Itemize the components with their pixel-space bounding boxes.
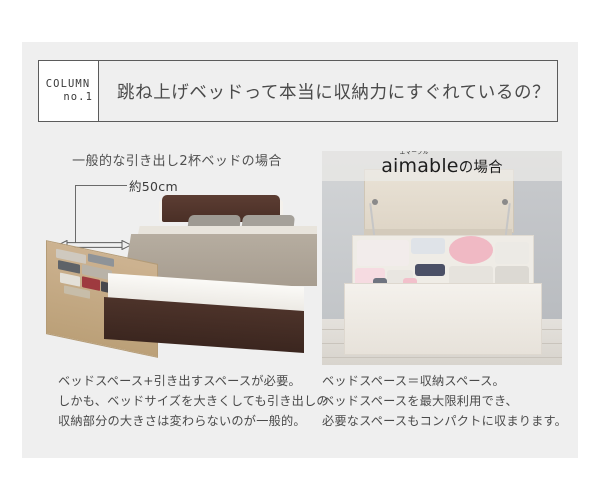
dimension-label: 約50cm bbox=[129, 176, 178, 195]
aimable-label-overlay: エマーブル aimableの場合 bbox=[322, 151, 562, 181]
aimable-label: エマーブル aimableの場合 bbox=[381, 155, 503, 177]
left-caption-line-2: しかも、ベッドサイズを大きくしても引き出しの bbox=[58, 392, 320, 412]
left-caption: ベッドスペース+引き出すスペースが必要。 しかも、ベッドサイズを大きくしても引き… bbox=[58, 372, 320, 431]
leader-line-vertical bbox=[75, 185, 76, 243]
right-caption-line-2: ベッドスペースを最大限利用でき、 bbox=[322, 392, 572, 412]
strut-knuckle-right bbox=[502, 199, 508, 205]
column-page: COLUMN no.1 跳ね上げベッドって本当に収納力にすぐれているの？ 一般的… bbox=[0, 0, 600, 481]
column-header: COLUMN no.1 跳ね上げベッドって本当に収納力にすぐれているの？ bbox=[38, 60, 558, 122]
left-caption-line-3: 収納部分の大きさは変わらないのが一般的。 bbox=[58, 412, 320, 432]
right-caption: ベッドスペース＝収納スペース。 ベッドスペースを最大限利用でき、 必要なスペース… bbox=[322, 372, 572, 431]
brand-suffix: の場合 bbox=[459, 160, 503, 176]
left-column-heading-wrap: 一般的な引き出し2杯ベッドの場合 bbox=[42, 150, 312, 175]
leader-line-horizontal bbox=[75, 185, 127, 186]
right-caption-line-3: 必要なスペースもコンパクトに収まります。 bbox=[322, 412, 572, 432]
column-badge-top: COLUMN bbox=[43, 78, 93, 91]
column-badge-number: no.1 bbox=[43, 91, 93, 104]
conventional-bed-illustration: 約50cm bbox=[42, 176, 317, 366]
strut-knuckle-left bbox=[372, 199, 378, 205]
column-badge: COLUMN no.1 bbox=[39, 61, 99, 121]
furigana-text: エマーブル bbox=[383, 151, 445, 156]
right-caption-line-1: ベッドスペース＝収納スペース。 bbox=[322, 372, 572, 392]
storage-bed-body bbox=[344, 283, 542, 355]
brand-name: aimable bbox=[381, 155, 459, 177]
aimable-bed-photo: エマーブル aimableの場合 bbox=[322, 151, 562, 365]
left-caption-line-1: ベッドスペース+引き出すスペースが必要。 bbox=[58, 372, 320, 392]
left-heading: 一般的な引き出し2杯ベッドの場合 bbox=[42, 150, 312, 169]
page-title: 跳ね上げベッドって本当に収納力にすぐれているの？ bbox=[99, 61, 557, 121]
